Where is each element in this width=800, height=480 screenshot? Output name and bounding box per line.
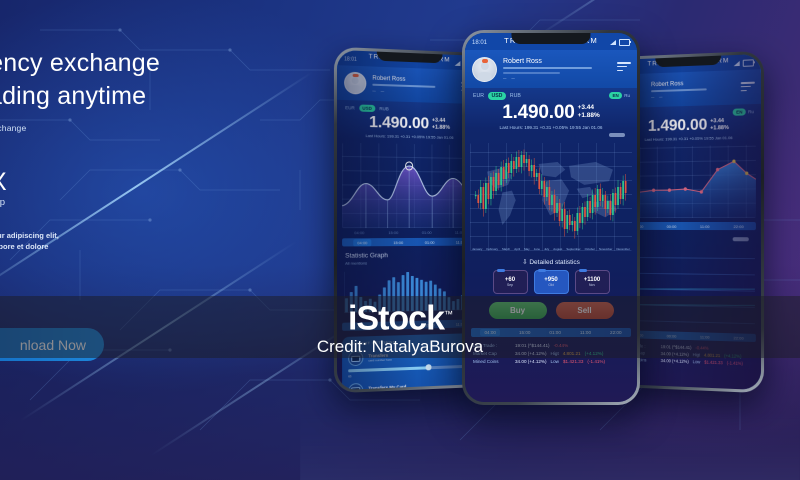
row-value: 34.00 (+4.12%)	[661, 357, 689, 365]
phone-notch	[511, 33, 590, 44]
promo-headline-line1: urrency exchange	[0, 48, 248, 78]
avatar-head	[480, 62, 488, 70]
candle-body	[498, 173, 500, 185]
candle-body	[589, 201, 591, 213]
user-meta-item: —	[503, 76, 506, 80]
stat-month: Okt	[548, 283, 553, 287]
card-tag	[497, 269, 505, 273]
currency-selector[interactable]: EUR USD RUB EN Ru	[465, 88, 637, 100]
stat-card-sep[interactable]: +60 Sep	[493, 270, 528, 294]
month-tick: December	[616, 247, 629, 251]
battery-icon	[743, 59, 754, 67]
chart-x-axis: 04:00 15:00 01:00 11:00	[342, 230, 476, 235]
candle-body	[554, 195, 556, 213]
currency-eur[interactable]: EUR	[473, 93, 484, 99]
language-toggle[interactable]: EN Ru	[733, 108, 754, 116]
candle-body	[533, 165, 535, 177]
candle-body	[495, 173, 497, 191]
candle-body	[604, 195, 606, 209]
avatar-body	[477, 72, 492, 82]
candle-body	[571, 221, 573, 225]
promo-body-line2: didunt ut labore et dolore	[0, 241, 248, 252]
candle-body	[503, 167, 505, 179]
price-block: 1.490.00 +3.44 +1.88% Last Hours: 199.31…	[337, 111, 480, 143]
user-bar[interactable]: Robert Ross — —	[465, 50, 637, 88]
candle-body	[490, 177, 492, 199]
month-tick: June	[534, 247, 540, 251]
user-bar[interactable]: Robert Ross — —	[337, 65, 480, 104]
currency-rub[interactable]: RUB	[379, 106, 388, 111]
candle-body	[493, 177, 495, 191]
axis-tick: 01:00	[422, 230, 432, 235]
lang-en[interactable]: EN	[733, 108, 746, 115]
price-value: 1.490.00	[648, 116, 707, 135]
time-tab[interactable]: 22:00	[734, 224, 744, 229]
promo-subhead: ons for exchange	[0, 123, 248, 133]
candle-body	[516, 157, 518, 169]
istock-brand: iStock™	[348, 297, 452, 335]
user-detail-line	[651, 88, 707, 92]
month-tick: July	[544, 247, 549, 251]
delta-percent: +1.88%	[578, 112, 600, 120]
promo-headline-line2: , trading anytime	[0, 81, 248, 111]
table-row: Mined Coins 34.00 (+4.12%) Low $1.421.33…	[473, 358, 629, 366]
row-label-2: Low	[551, 358, 559, 366]
detailed-statistics-title: ⇩ Detailed statistics	[465, 251, 637, 270]
row-label: Mined Coins	[473, 358, 511, 366]
user-meta-item: —	[511, 76, 514, 80]
area-fill	[342, 165, 476, 228]
user-name: Robert Ross	[503, 58, 630, 65]
candle-body	[569, 215, 571, 225]
progress-indicator	[733, 237, 749, 241]
time-tab[interactable]: 01:00	[425, 239, 435, 244]
user-meta: — —	[372, 88, 473, 95]
phone-reflection	[300, 392, 800, 480]
candle-body	[482, 187, 484, 209]
axis-tick: 04:00	[354, 230, 364, 235]
price-deltas: +3.44 +1.88%	[578, 102, 600, 119]
battery-icon	[619, 39, 630, 46]
user-meta-item: —	[651, 95, 654, 99]
time-range-bar[interactable]: 15:00 00:00 11:00 22:00	[622, 222, 756, 230]
candle-body	[625, 181, 627, 193]
candle-body	[500, 167, 502, 185]
card-tag	[538, 269, 546, 273]
time-tab[interactable]: 00:00	[667, 223, 677, 228]
price-value: 1.490.00	[502, 102, 574, 124]
user-meta: — —	[651, 91, 754, 98]
candle-body	[543, 181, 545, 197]
price-deltas: +3.44 +1.88%	[432, 116, 450, 131]
avatar	[344, 72, 366, 95]
menu-icon[interactable]	[617, 62, 631, 73]
time-tab[interactable]: 15:00	[393, 240, 403, 245]
month-tick: September	[566, 247, 580, 251]
currency-eur[interactable]: EUR	[345, 105, 355, 110]
card-tag	[579, 269, 587, 273]
row-value-2: $1.421.33	[704, 359, 723, 367]
user-meta-item: —	[372, 88, 375, 92]
month-tick: November	[599, 247, 612, 251]
price-block: 1.490.00 +3.44 +1.88% Last Hours: 199.31…	[465, 100, 637, 133]
language-toggle[interactable]: EN Ru	[609, 92, 630, 99]
stat-cards[interactable]: +60 Sep +950 Okt +1100 Nov	[465, 270, 637, 294]
istock-watermark: iStock™ Credit: NatalyaBurova	[0, 296, 800, 358]
candle-body	[475, 195, 477, 196]
currency-usd[interactable]: USD	[359, 105, 376, 113]
candle-body	[510, 161, 512, 173]
candle-body	[541, 181, 543, 189]
candle-body	[521, 155, 523, 167]
lang-ru[interactable]: Ru	[624, 93, 630, 98]
currency-usd[interactable]: USD	[488, 92, 506, 100]
user-meta: — —	[503, 76, 630, 80]
axis-tick: 15:00	[388, 230, 398, 235]
time-tab[interactable]: 11:00	[700, 224, 710, 229]
candle-body	[599, 189, 601, 201]
candle-body	[561, 209, 563, 221]
candle-body	[620, 187, 622, 199]
user-detail-line-2	[503, 72, 560, 74]
delta-percent: +1.88%	[710, 124, 729, 131]
candle-body	[582, 207, 584, 223]
user-detail-line	[372, 84, 435, 88]
candle-body	[622, 181, 624, 199]
month-tick: October	[585, 247, 595, 251]
month-tick: March	[502, 247, 510, 251]
month-tick: February	[486, 247, 498, 251]
last-hours-text: Last Hours: 199.31 +0.31 +0.05% 19:55 Ja…	[465, 125, 637, 130]
candle-body	[574, 221, 576, 231]
candle-body	[602, 195, 604, 201]
row-value: 34.00 (+4.12%)	[515, 358, 547, 366]
candle-body	[594, 195, 596, 207]
candle-body	[556, 203, 558, 213]
candle-body	[513, 161, 515, 169]
candle-body	[536, 173, 538, 177]
candle-body	[564, 209, 566, 229]
banner-stage: urrency exchange , trading anytime ons f…	[0, 0, 800, 480]
candle-body	[607, 201, 609, 209]
candle-body	[549, 187, 551, 205]
stat-value: +60	[505, 277, 515, 283]
candle-body	[480, 187, 482, 203]
candle-body	[485, 183, 487, 209]
stat-card-okt[interactable]: +950 Okt	[534, 270, 569, 294]
istock-brand-text: iStock	[348, 300, 444, 338]
candle-body	[528, 159, 530, 171]
candle-body	[577, 213, 579, 231]
lang-en[interactable]: EN	[609, 92, 622, 99]
month-tick: August	[553, 247, 562, 251]
row-label-2: Low	[693, 358, 701, 365]
user-detail-line	[503, 67, 592, 69]
candle-body	[579, 213, 581, 223]
month-axis: JanuaryFebruaryMarchAprilMayJuneJulyAugu…	[470, 247, 632, 251]
istock-credit: Credit: NatalyaBurova	[317, 337, 483, 357]
candle-body	[477, 195, 479, 203]
time-tab-active[interactable]: 04:00	[353, 239, 371, 246]
candle-body	[505, 163, 507, 179]
delta-percent: +1.88%	[432, 124, 450, 131]
candle-body	[538, 173, 540, 189]
line-chart[interactable]	[622, 145, 756, 218]
candle-body	[617, 187, 619, 205]
row-change-2: (-1.41%)	[727, 359, 743, 367]
user-meta-item: —	[659, 94, 662, 98]
stat-value: +1100	[584, 277, 601, 283]
month-tick: April	[514, 247, 520, 251]
currency-rub[interactable]: RUB	[510, 93, 521, 99]
avatar-hat	[353, 74, 358, 77]
user-name: Robert Ross	[651, 78, 754, 88]
candle-body	[508, 163, 510, 173]
delta-absolute: +3.44	[578, 104, 600, 112]
area-chart[interactable]	[342, 143, 476, 228]
stat-month: Nov	[589, 283, 595, 287]
promo-heading2-sub: Mobile App	[0, 197, 248, 208]
price-value: 1.490.00	[369, 114, 429, 134]
candle-body	[523, 155, 525, 163]
user-meta-item: —	[381, 89, 384, 93]
promo-heading2: I/UX	[0, 169, 248, 196]
candle-body	[551, 195, 553, 205]
price-deltas: +3.44 +1.88%	[710, 116, 729, 132]
menu-icon[interactable]	[741, 82, 755, 94]
avatar-head	[352, 77, 359, 85]
avatar-body	[349, 85, 362, 94]
candle-body	[584, 207, 586, 217]
row-value-2: $1.421.33	[563, 358, 583, 366]
avatar-hat	[482, 59, 488, 63]
candle-body	[546, 187, 548, 197]
month-tick: May	[524, 247, 529, 251]
trademark-symbol: ™	[444, 309, 452, 319]
candle-body	[531, 165, 533, 171]
lang-ru[interactable]: Ru	[748, 109, 754, 114]
avatar	[472, 57, 497, 82]
row-change-2: (-1.41%)	[587, 358, 605, 366]
candle-body	[587, 201, 589, 217]
candle-body	[610, 201, 612, 215]
detailed-statistics-label: Detailed statistics	[529, 259, 580, 266]
candle-body	[526, 159, 528, 163]
candle-body	[566, 215, 568, 229]
card-icon	[348, 382, 363, 390]
candle-body	[615, 193, 617, 205]
stat-month: Sep	[507, 283, 513, 287]
candlestick-chart[interactable]: JanuaryFebruaryMarchAprilMayJuneJulyAugu…	[470, 143, 632, 251]
stat-card-nov[interactable]: +1100 Nov	[575, 270, 610, 294]
candle-body	[559, 203, 561, 221]
progress-indicator	[609, 133, 625, 137]
candle-body	[597, 189, 599, 207]
candle-body	[518, 157, 520, 167]
candle-body	[612, 193, 614, 215]
candle-body	[488, 183, 490, 199]
promo-copy: urrency exchange , trading anytime ons f…	[0, 48, 248, 252]
candle-body	[592, 195, 594, 213]
promo-body-line1: , consectetur adipiscing elit,	[0, 230, 248, 241]
stat-value: +950	[544, 277, 558, 283]
month-tick: January	[472, 247, 482, 251]
